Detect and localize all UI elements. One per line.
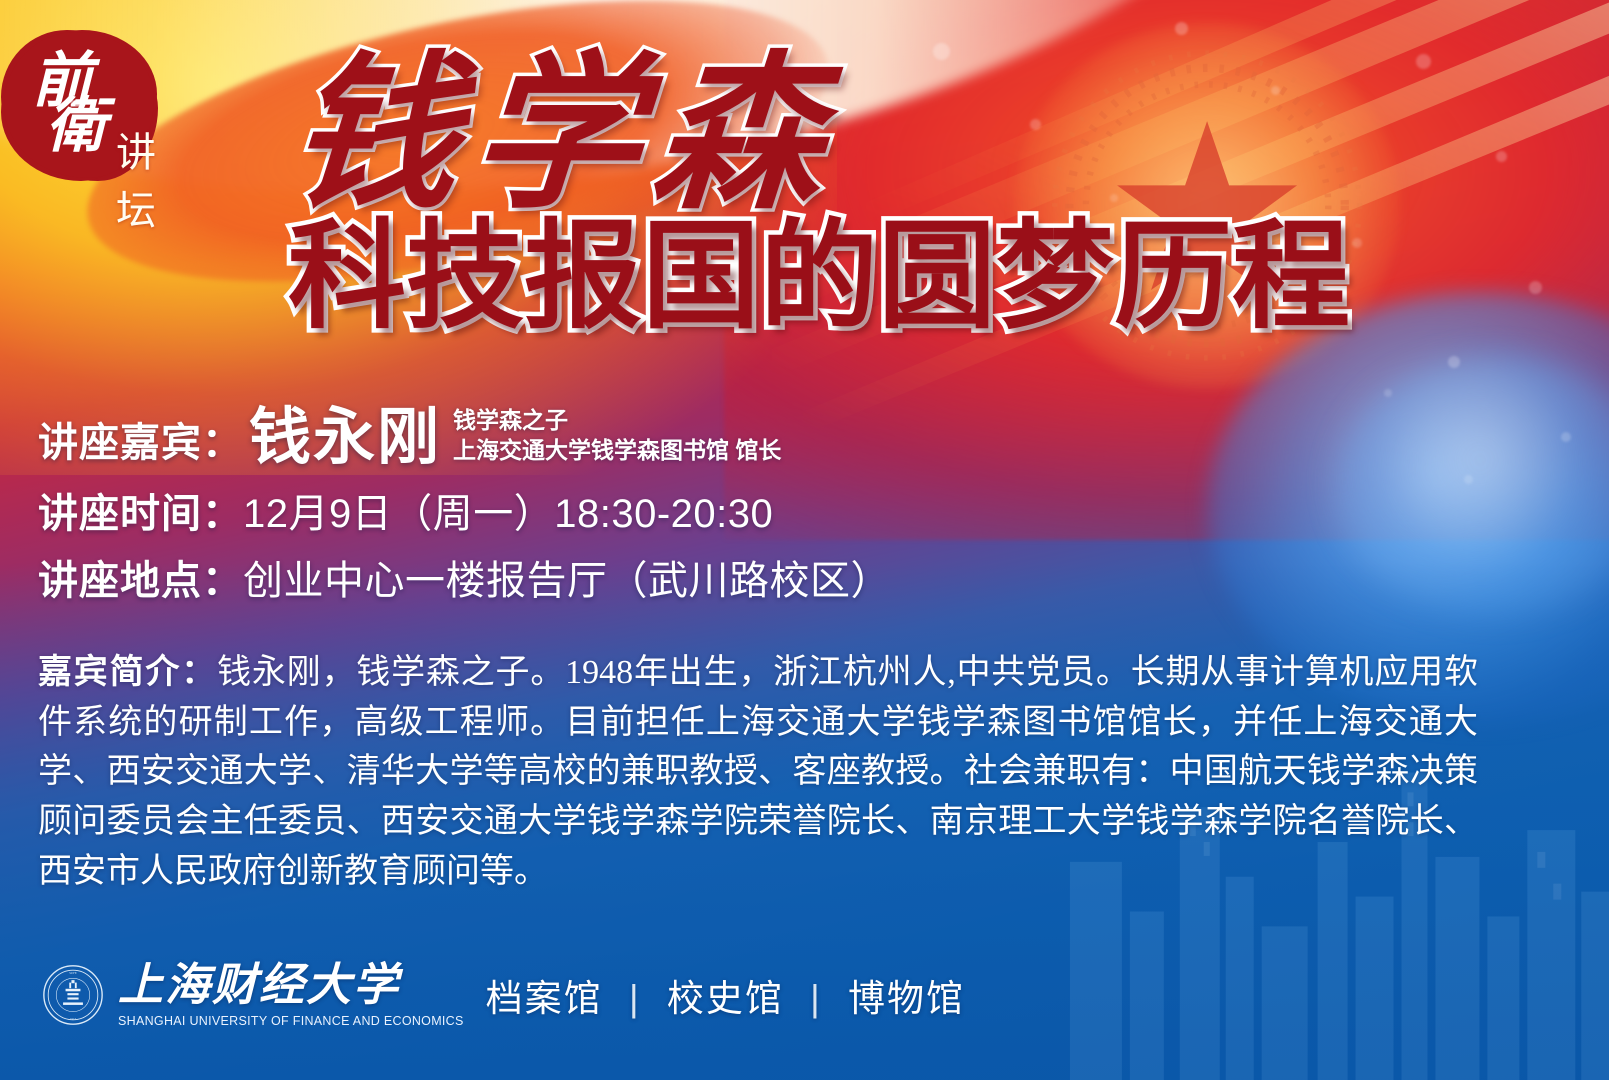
university-name-en: SHANGHAI UNIVERSITY OF FINANCE AND ECONO… (118, 1014, 464, 1028)
time-row: 讲座时间： 12月9日（周一）18:30-20:30 (38, 481, 1138, 539)
footer-separator-2: | (810, 978, 822, 1019)
seal-char-line2: 衛 (46, 99, 102, 154)
seal-side-label: 讲坛 (116, 120, 180, 236)
poster-main-title: 钱学森 (284, 52, 842, 220)
footer-link-museum: 博物馆 (848, 978, 965, 1019)
place-label: 讲座地点： (38, 548, 243, 606)
guest-meta-line2: 上海交通大学钱学森图书馆 馆长 (453, 435, 781, 465)
university-name-block: 上海财经大学 SHANGHAI UNIVERSITY OF FINANCE AN… (118, 962, 464, 1028)
seal-calligraphy-text: 前 衛 (24, 54, 102, 154)
poster-footer: SUFE 1917 上海财经大学 SHANGHAI UNIVERSITY OF … (42, 962, 965, 1028)
guest-label: 讲座嘉宾： (38, 410, 243, 468)
guest-biography: 嘉宾简介：钱永刚，钱学森之子。1948年出生，浙江杭州人,中共党员。长期从事计算… (38, 648, 1478, 896)
guest-row: 讲座嘉宾： 钱永刚 钱学森之子 上海交通大学钱学森图书馆 馆长 (38, 405, 1138, 468)
place-row: 讲座地点： 创业中心一楼报告厅（武川路校区） (38, 548, 1138, 606)
svg-text:1917: 1917 (70, 1017, 77, 1021)
place-value: 创业中心一楼报告厅（武川路校区） (243, 548, 891, 606)
poster-subtitle: 科技报国的圆梦历程 (288, 218, 1350, 336)
lecture-info-block: 讲座嘉宾： 钱永刚 钱学森之子 上海交通大学钱学森图书馆 馆长 讲座时间： 12… (38, 405, 1138, 615)
footer-separator-1: | (629, 978, 641, 1019)
university-emblem-icon: SUFE 1917 (42, 964, 104, 1026)
bio-label: 嘉宾简介： (38, 654, 217, 691)
time-value: 12月9日（周一）18:30-20:30 (243, 481, 773, 539)
poster-canvas: 前 衛 讲坛 钱学森 科技报国的圆梦历程 讲座嘉宾： 钱永刚 钱学森之子 上海交… (0, 0, 1609, 1080)
time-label: 讲座时间： (38, 481, 243, 539)
footer-links: 档案馆 | 校史馆 | 博物馆 (486, 968, 965, 1022)
forum-seal-logo: 前 衛 讲坛 (4, 32, 180, 184)
footer-link-archives: 档案馆 (486, 978, 603, 1019)
footer-link-history-museum: 校史馆 (667, 978, 784, 1019)
svg-text:SUFE: SUFE (69, 971, 77, 975)
guest-name: 钱永刚 (249, 409, 441, 468)
university-name-cn: 上海财经大学 (118, 962, 464, 1009)
bio-text: 钱永刚，钱学森之子。1948年出生，浙江杭州人,中共党员。长期从事计算机应用软件… (38, 654, 1478, 890)
guest-meta-line1: 钱学森之子 (453, 405, 781, 435)
guest-meta: 钱学森之子 上海交通大学钱学森图书馆 馆长 (453, 405, 781, 466)
